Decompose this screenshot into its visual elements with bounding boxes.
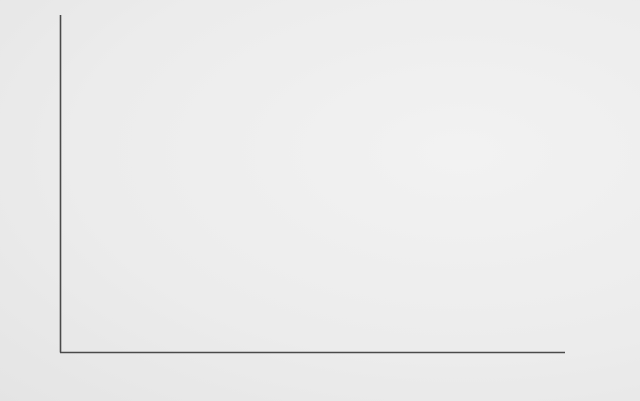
chart-plot-area xyxy=(0,0,640,401)
spectrum-chart xyxy=(0,0,640,401)
chart-axes xyxy=(60,15,565,353)
